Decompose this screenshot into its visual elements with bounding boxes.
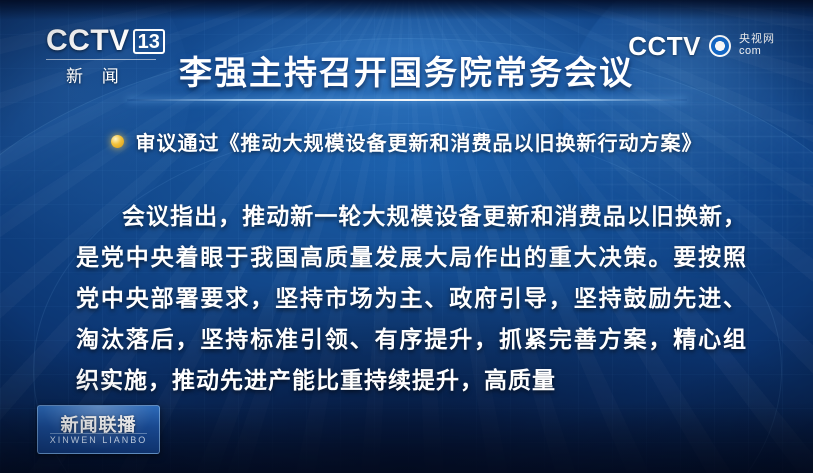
gold-dot-icon bbox=[111, 135, 124, 148]
top-shade-bar bbox=[0, 0, 813, 20]
program-badge-divider bbox=[50, 433, 147, 434]
headline-divider bbox=[127, 99, 687, 101]
headline-subtitle-row: 审议通过《推动大规模设备更新和消费品以旧换新行动方案》 bbox=[0, 127, 813, 156]
headline-subtitle: 审议通过《推动大规模设备更新和消费品以旧换新行动方案》 bbox=[136, 127, 703, 156]
program-badge: 新闻联播 XINWEN LIANBO bbox=[37, 405, 160, 454]
program-badge-en: XINWEN LIANBO bbox=[38, 435, 159, 445]
broadcast-frame: CCTV 13 新 闻 CCTV 央视网 com 李强主持召开国务院常务会议 审… bbox=[0, 0, 813, 473]
headline-title: 李强主持召开国务院常务会议 bbox=[0, 46, 813, 94]
news-body-paragraph: 会议指出，推动新一轮大规模设备更新和消费品以旧换新，是党中央着眼于我国高质量发展… bbox=[76, 196, 747, 401]
